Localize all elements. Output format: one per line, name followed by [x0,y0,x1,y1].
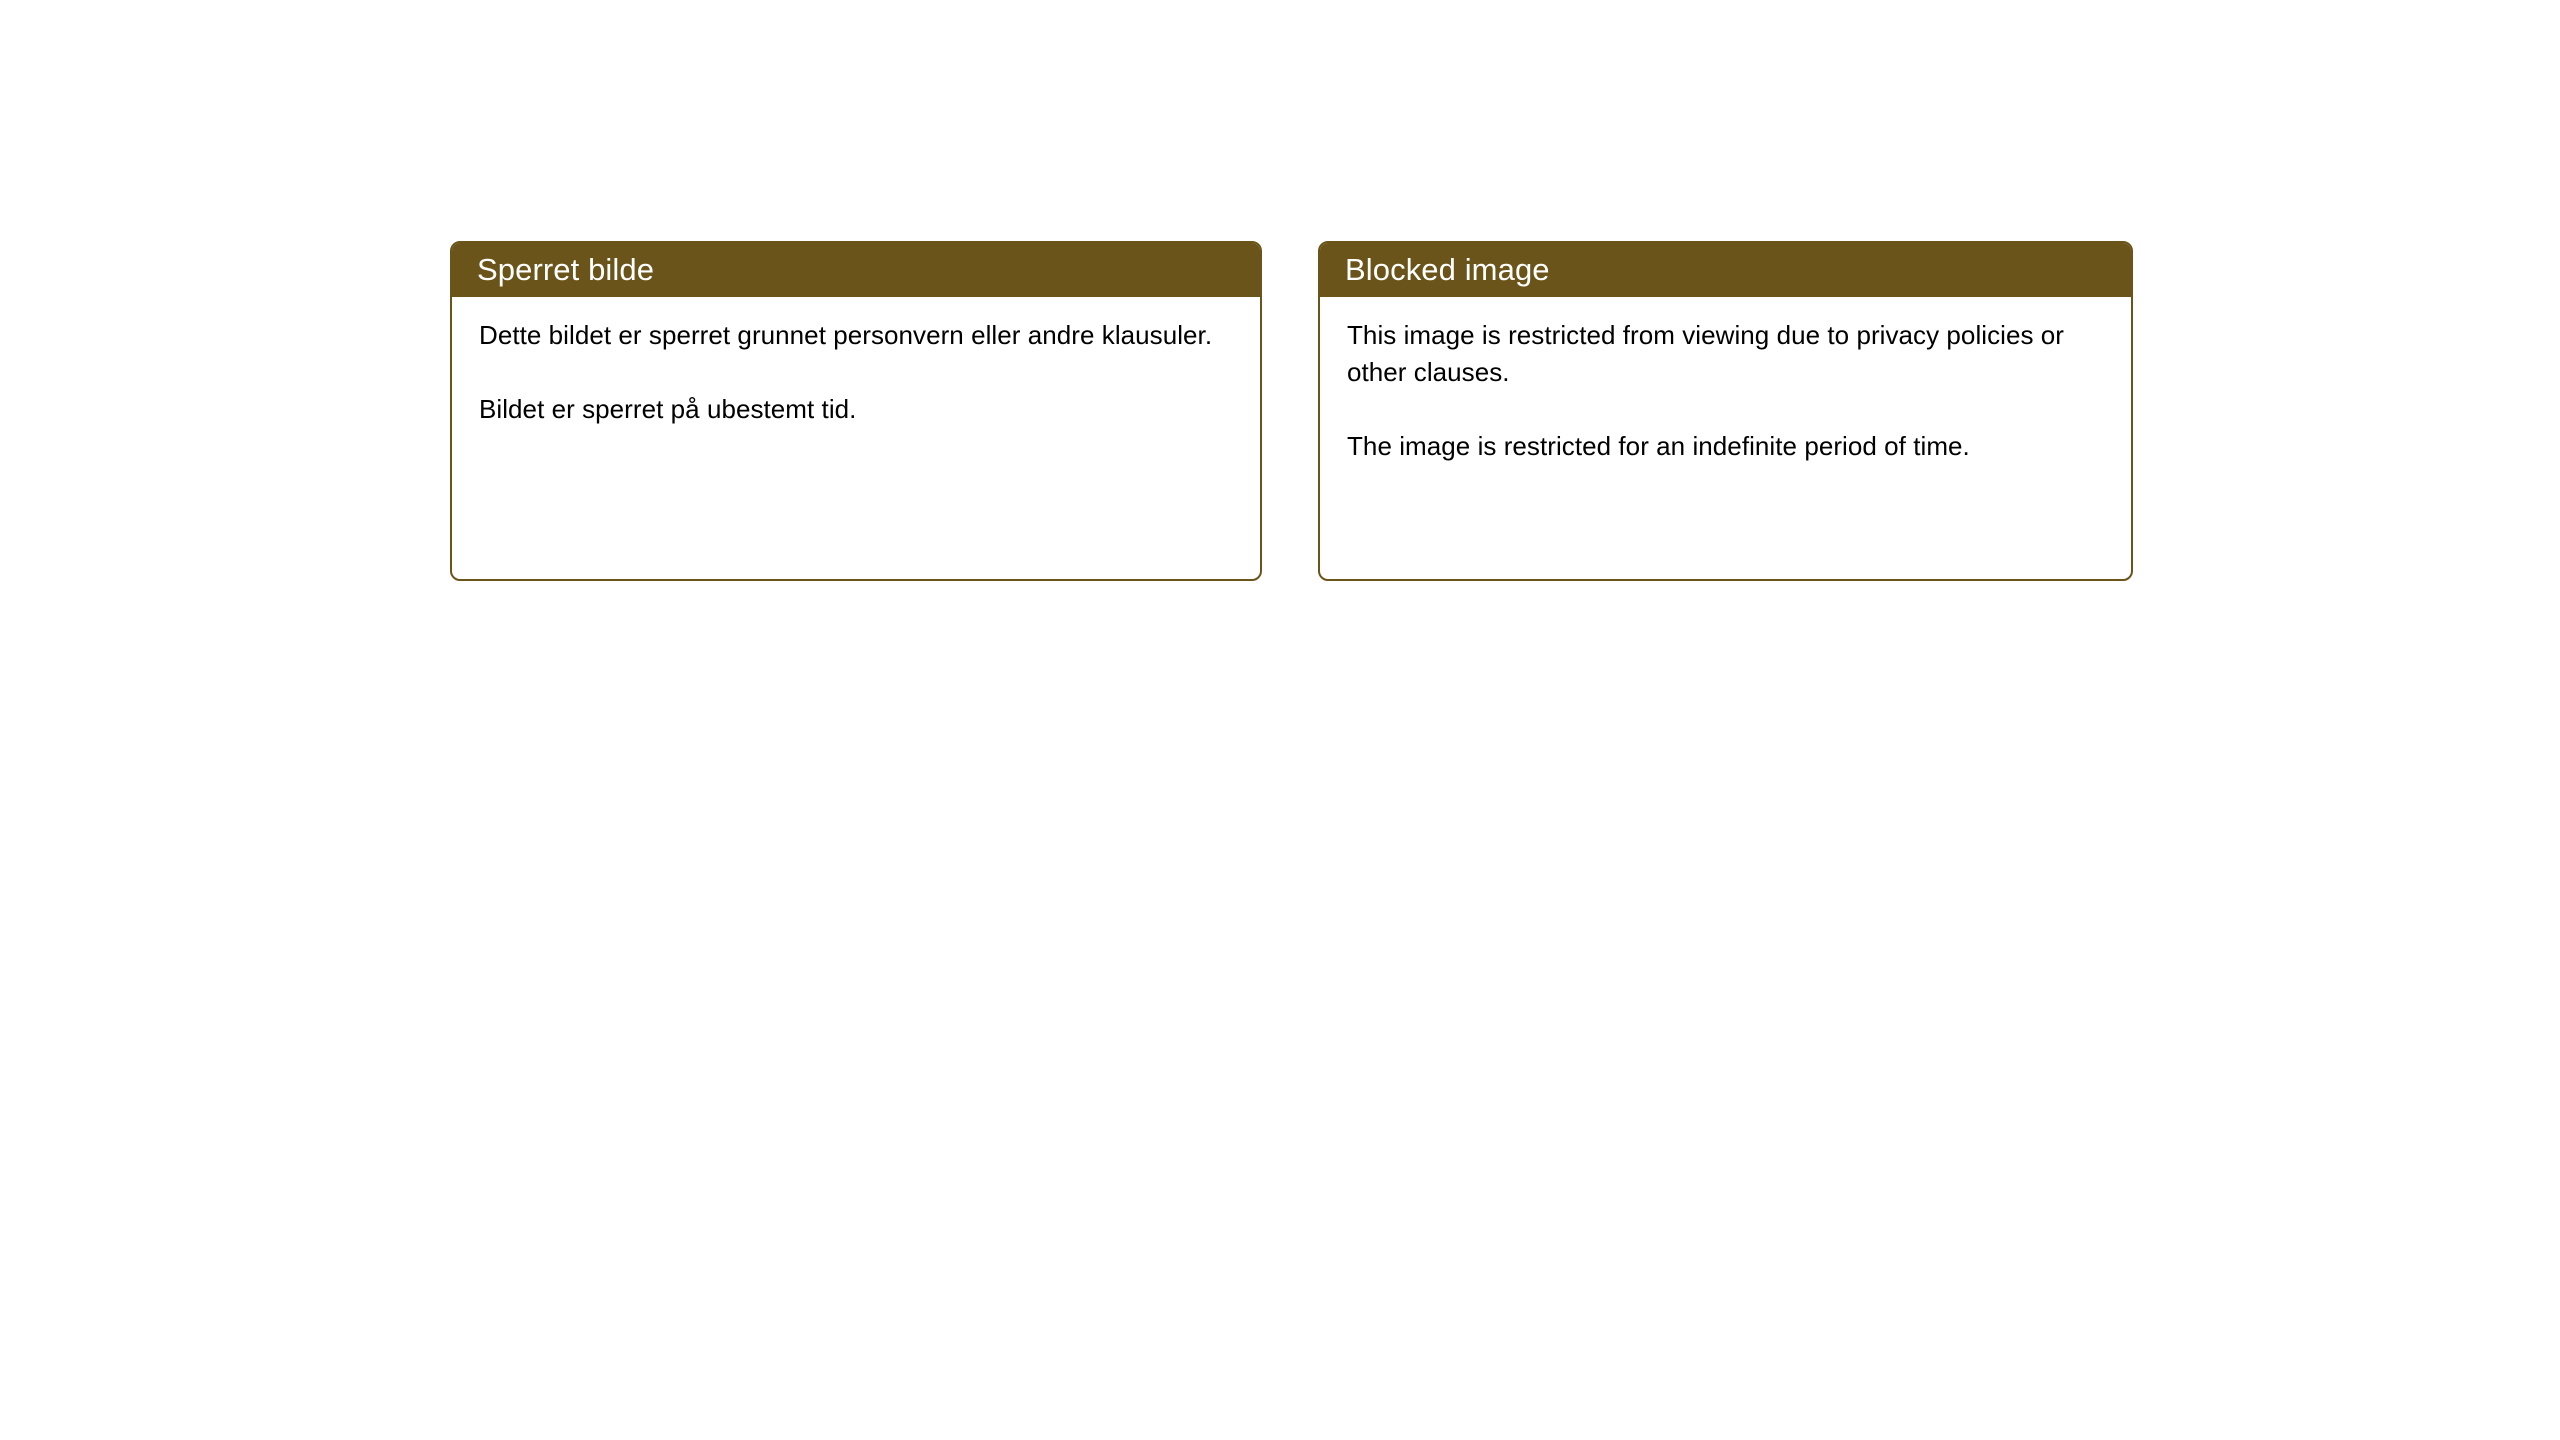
blocked-image-notice-card-norwegian: Sperret bilde Dette bildet er sperret gr… [450,241,1262,581]
card-paragraph-duration-english: The image is restricted for an indefinit… [1347,428,2107,465]
card-paragraph-duration-norwegian: Bildet er sperret på ubestemt tid. [479,391,1236,428]
blocked-image-notice-card-english: Blocked image This image is restricted f… [1318,241,2133,581]
page-canvas: Sperret bilde Dette bildet er sperret gr… [0,0,2560,1440]
card-body-norwegian: Dette bildet er sperret grunnet personve… [452,297,1260,428]
card-title-norwegian: Sperret bilde [477,254,654,285]
card-header-english: Blocked image [1318,241,2133,297]
card-title-english: Blocked image [1345,254,1550,285]
card-paragraph-reason-english: This image is restricted from viewing du… [1347,317,2107,391]
card-body-english: This image is restricted from viewing du… [1320,297,2131,465]
card-header-norwegian: Sperret bilde [450,241,1262,297]
card-paragraph-reason-norwegian: Dette bildet er sperret grunnet personve… [479,317,1236,354]
